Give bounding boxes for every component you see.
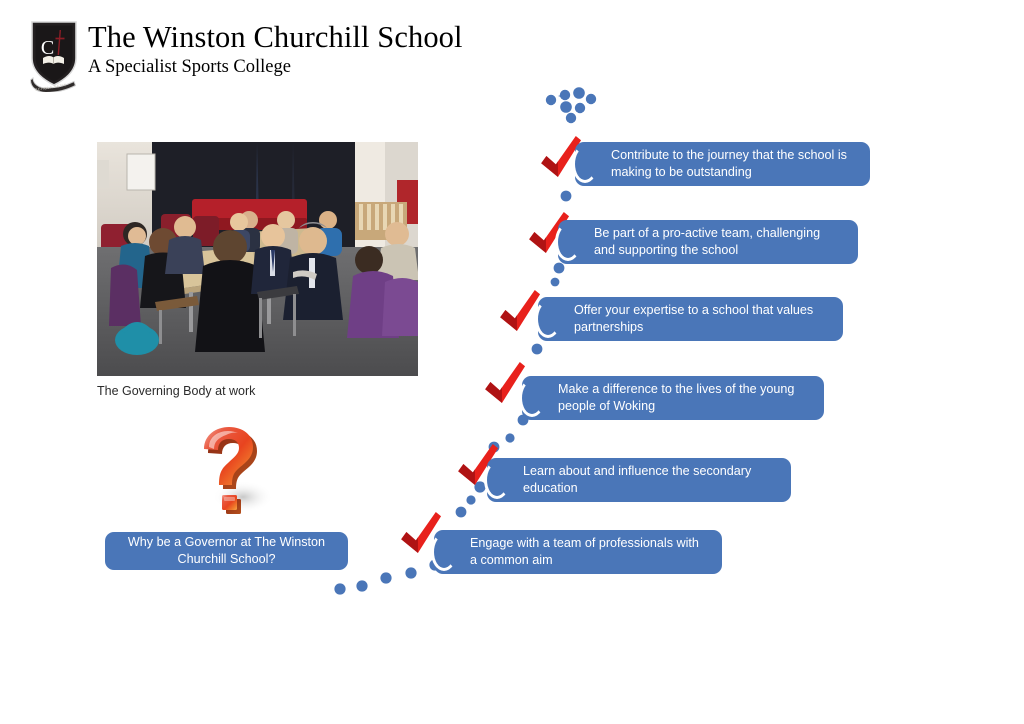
photo-caption: The Governing Body at work (97, 384, 255, 398)
checkmark-icon (500, 290, 540, 331)
page-title: The Winston Churchill School (88, 20, 463, 54)
school-branding-header: C SCHOLA PETIT The Winston Churchill Sch… (26, 18, 546, 96)
governing-body-photo (97, 142, 418, 376)
benefit-text: Offer your expertise to a school that va… (574, 302, 829, 337)
checkmark-icon (485, 362, 525, 403)
question-mark-icon (183, 423, 279, 519)
benefit-text: Contribute to the journey that the schoo… (611, 147, 856, 182)
page-subtitle: A Specialist Sports College (88, 56, 463, 78)
benefit-callout-expertise[interactable]: Offer your expertise to a school that va… (538, 297, 843, 341)
svg-text:C: C (41, 37, 54, 59)
benefit-text: Be part of a pro-active team, challengin… (594, 225, 844, 260)
benefit-text: Engage with a team of professionals with… (470, 535, 708, 570)
question-callout-text: Why be a Governor at The Winston Churchi… (117, 534, 336, 569)
benefit-callout-pro-active-team[interactable]: Be part of a pro-active team, challengin… (558, 220, 858, 264)
benefit-text: Make a difference to the lives of the yo… (558, 381, 810, 416)
question-callout[interactable]: Why be a Governor at The Winston Churchi… (105, 532, 348, 570)
benefit-callout-learn[interactable]: Learn about and influence the secondary … (487, 458, 791, 502)
benefit-callout-contribute[interactable]: Contribute to the journey that the schoo… (575, 142, 870, 186)
dot-arrowhead (546, 87, 596, 123)
benefit-callout-engage[interactable]: Engage with a team of professionals with… (434, 530, 722, 574)
header-text-block: The Winston Churchill School A Specialis… (88, 20, 463, 78)
school-crest-icon: C SCHOLA PETIT (26, 18, 82, 92)
benefit-text: Learn about and influence the secondary … (523, 463, 777, 498)
benefit-callout-difference[interactable]: Make a difference to the lives of the yo… (522, 376, 824, 420)
